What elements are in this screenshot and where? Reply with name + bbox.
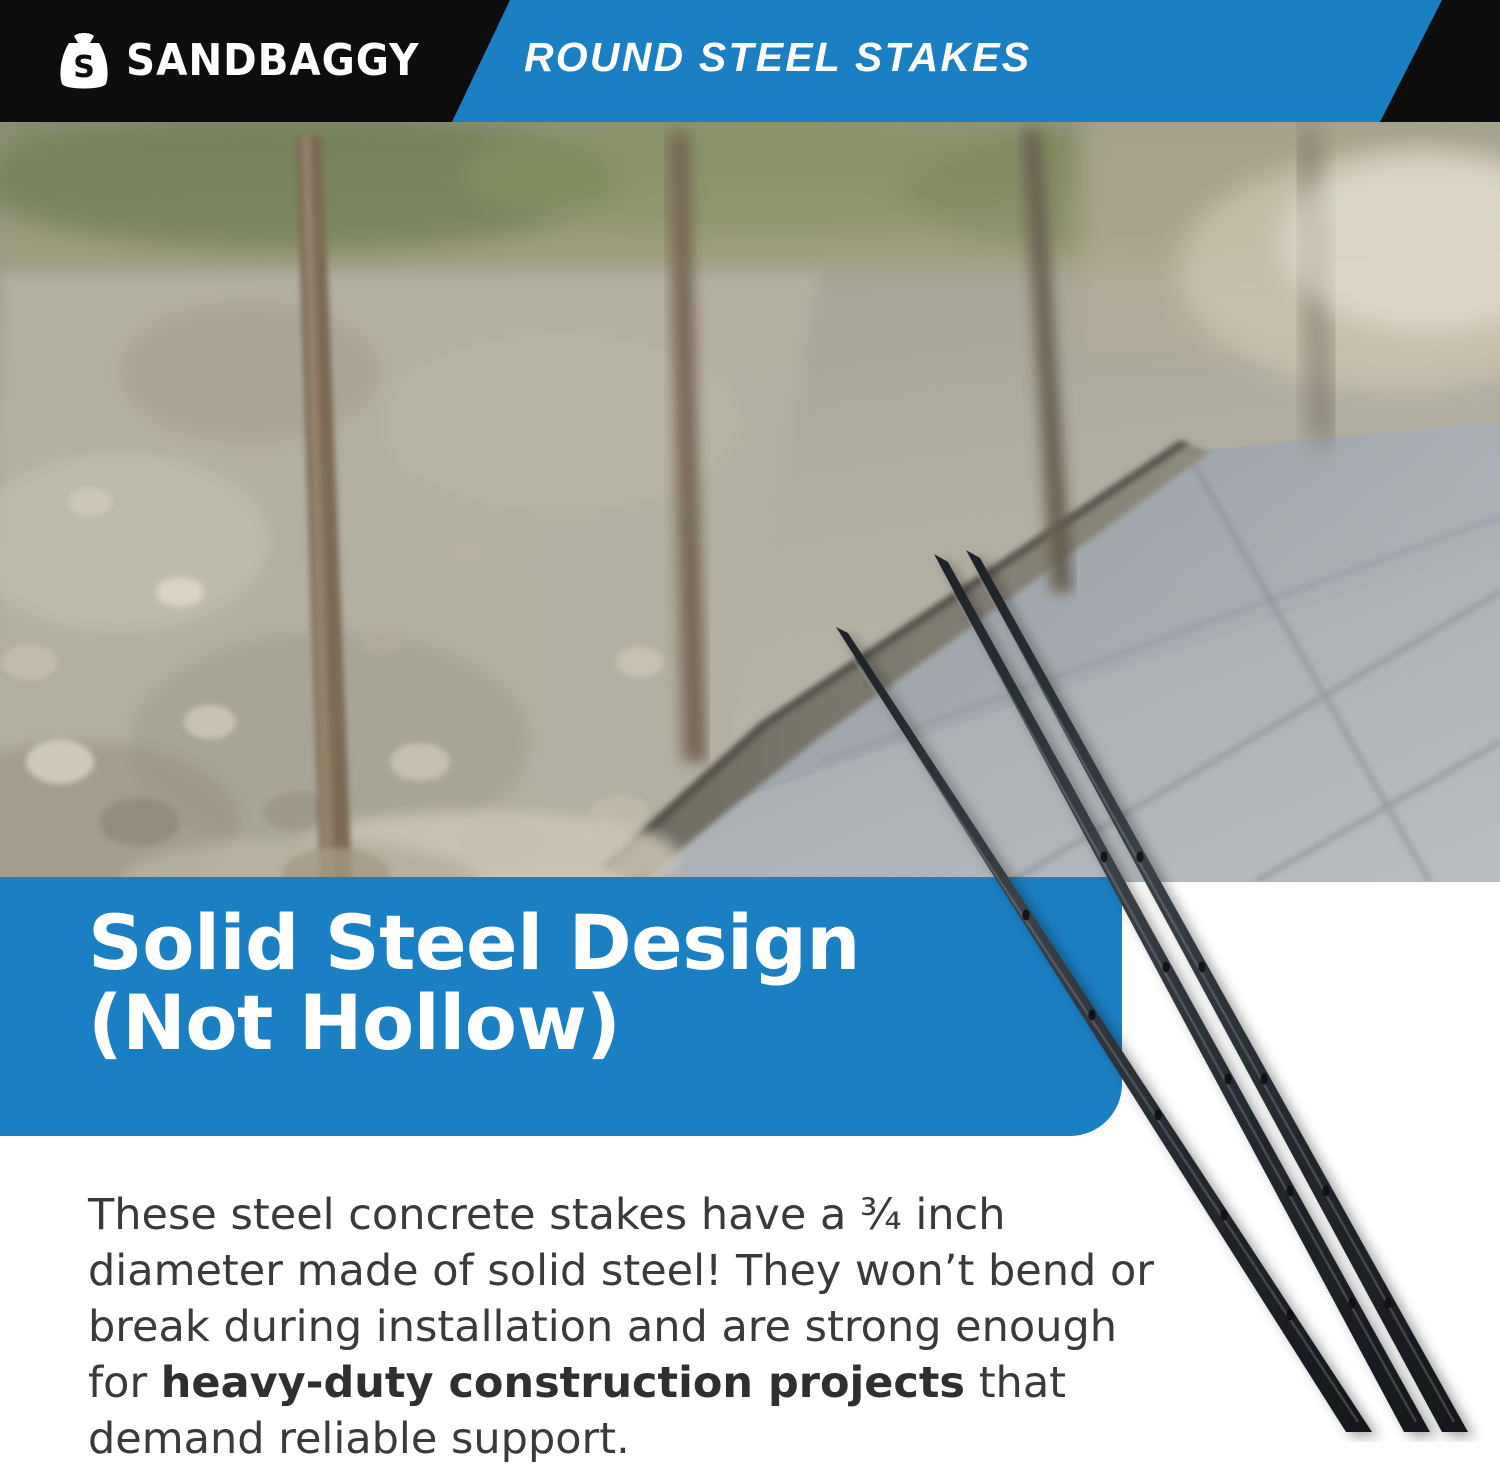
- callout-panel: Solid Steel Design (Not Hollow): [0, 877, 1122, 1136]
- brand-wordmark: SANDBAGGY: [126, 39, 419, 83]
- header-title: ROUND STEEL STAKES: [524, 34, 1031, 81]
- brand-logo[interactable]: S SANDBAGGY: [56, 30, 445, 92]
- product-photo: [0, 122, 1500, 882]
- callout-heading: Solid Steel Design (Not Hollow): [88, 903, 1088, 1063]
- svg-text:S: S: [73, 50, 95, 85]
- header-black-right-block: [1380, 0, 1500, 122]
- sandbag-icon: S: [56, 30, 112, 92]
- header-bar: S SANDBAGGY ROUND STEEL STAKES: [0, 0, 1500, 122]
- body-paragraph: These steel concrete stakes have a ¾ inc…: [88, 1188, 1178, 1467]
- body-text-emphasis: heavy-duty construction projects: [161, 1358, 965, 1408]
